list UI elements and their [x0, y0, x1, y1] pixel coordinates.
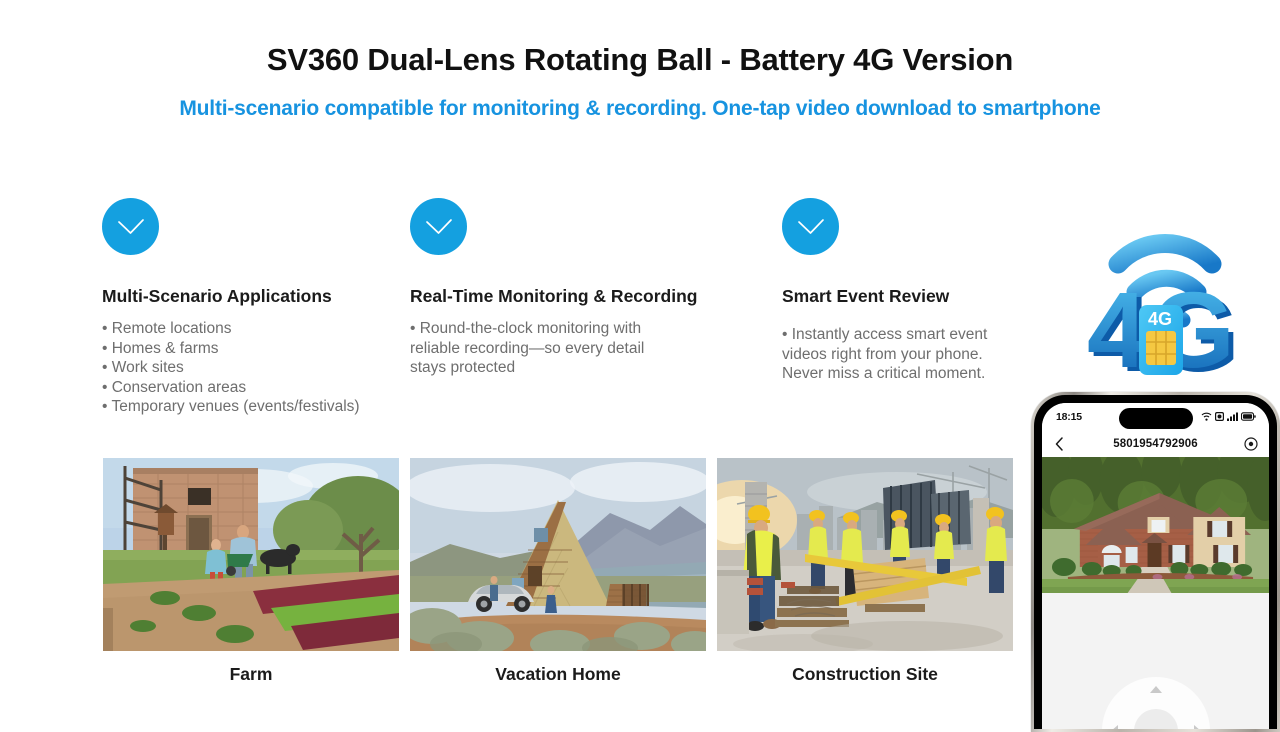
- app-nav-bar: 5801954792906: [1042, 431, 1269, 457]
- status-time: 18:15: [1056, 411, 1082, 423]
- check-circle-icon: [782, 198, 839, 255]
- feature-body: • Remote locations • Homes & farms • Wor…: [102, 319, 402, 417]
- status-icons: [1201, 408, 1256, 426]
- photo-construction-site: [717, 458, 1013, 651]
- page-subtitle: Multi-scenario compatible for monitoring…: [0, 97, 1280, 121]
- feature-bullet: • Conservation areas: [102, 378, 402, 398]
- page-title: SV360 Dual-Lens Rotating Ball - Battery …: [0, 42, 1280, 78]
- alarm-icon: [1215, 408, 1224, 426]
- feature-bullet: videos right from your phone.: [782, 345, 1027, 365]
- photo-caption: Vacation Home: [410, 664, 706, 685]
- dpad-left-arrow[interactable]: [1111, 725, 1118, 729]
- dpad-center-button[interactable]: [1134, 709, 1178, 729]
- feature-body: • Round-the-clock monitoring with reliab…: [410, 319, 755, 378]
- dynamic-island: [1119, 408, 1193, 429]
- feature-bullet: • Remote locations: [102, 319, 402, 339]
- dpad-up-arrow[interactable]: [1150, 686, 1162, 693]
- feature-bullet: reliable recording—so every detail: [410, 339, 755, 359]
- svg-text:4G: 4G: [1148, 309, 1172, 329]
- feature-bullet: stays protected: [410, 358, 755, 378]
- feature-bullet: • Homes & farms: [102, 339, 402, 359]
- svg-text:4: 4: [1087, 269, 1147, 388]
- feature-bullet: • Work sites: [102, 358, 402, 378]
- phone-screen: 18:15: [1042, 403, 1269, 729]
- feature-bullet: Never miss a critical moment.: [782, 364, 1027, 384]
- feature-bullet: • Round-the-clock monitoring with: [410, 319, 755, 339]
- 4g-network-logo: 4 G 4 G 4G: [1078, 228, 1258, 388]
- battery-icon: [1241, 408, 1256, 426]
- feature-title: Multi-Scenario Applications: [102, 286, 402, 307]
- dpad-right-arrow[interactable]: [1194, 725, 1201, 729]
- photo-farm: [103, 458, 399, 651]
- phone-bezel: 18:15: [1034, 395, 1277, 729]
- chevron-left-icon[interactable]: [1051, 436, 1067, 452]
- feature-title: Real-Time Monitoring & Recording: [410, 286, 755, 307]
- check-circle-icon: [102, 198, 159, 255]
- check-circle-icon: [410, 198, 467, 255]
- photo-vacation-home: [410, 458, 706, 651]
- app-control-panel: [1042, 593, 1269, 729]
- live-camera-feed[interactable]: [1042, 457, 1269, 593]
- device-id-label: 5801954792906: [1042, 438, 1269, 450]
- feature-card-real-time-monitoring: Real-Time Monitoring & Recording • Round…: [410, 198, 755, 378]
- signal-icon: [1227, 408, 1238, 426]
- feature-body: • Instantly access smart event videos ri…: [782, 325, 1027, 384]
- feature-card-multi-scenario: Multi-Scenario Applications • Remote loc…: [102, 198, 402, 417]
- target-settings-icon[interactable]: [1243, 436, 1259, 452]
- feature-bullet: • Instantly access smart event: [782, 325, 1027, 345]
- phone-status-bar: 18:15: [1042, 403, 1269, 431]
- wifi-icon: [1201, 408, 1212, 426]
- feature-bullet: • Temporary venues (events/festivals): [102, 397, 402, 417]
- ptz-dpad-control[interactable]: [1102, 677, 1210, 729]
- phone-mockup: 18:15: [1031, 392, 1280, 732]
- photo-caption: Farm: [103, 664, 399, 685]
- feature-title: Smart Event Review: [782, 286, 1027, 307]
- feature-card-smart-event-review: Smart Event Review • Instantly access sm…: [782, 198, 1027, 384]
- photo-caption: Construction Site: [717, 664, 1013, 685]
